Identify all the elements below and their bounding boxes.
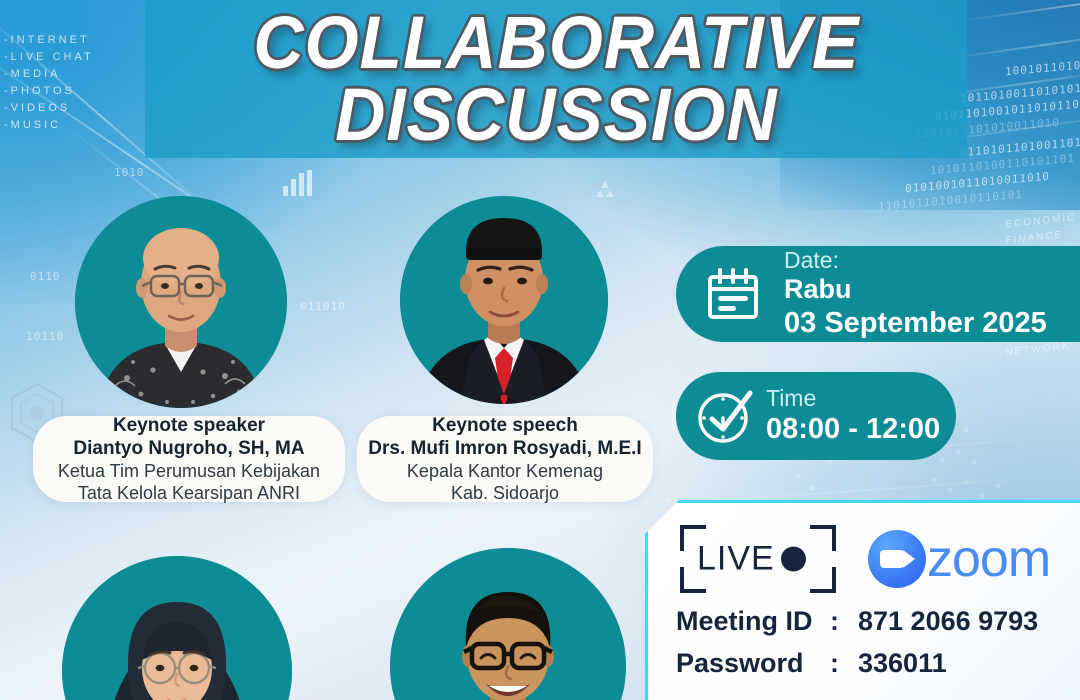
live-badge: LIVE xyxy=(680,525,836,593)
bracket-bottom-right-icon xyxy=(810,567,836,593)
password-row: Password : 336011 xyxy=(676,643,1038,685)
speaker-org-1-line2: Tata Kelola Kearsipan ANRI xyxy=(78,482,300,504)
title-line-1: COLLABORATIVE xyxy=(253,9,859,77)
poster-canvas: 1011010011010101001 0101101001011010110 … xyxy=(0,0,1080,700)
meeting-id-separator: : xyxy=(830,601,858,643)
zoom-wordmark: zoom xyxy=(927,529,1050,589)
binary-texture-row: 0110 xyxy=(30,270,61,283)
bar-chart-watermark xyxy=(283,170,312,196)
speaker-org-2-line2: Kab. Sidoarjo xyxy=(451,482,559,504)
password-separator: : xyxy=(830,643,858,685)
date-pill: Date: Rabu 03 September 2025 xyxy=(676,246,1080,342)
speaker-photo-2 xyxy=(400,196,608,404)
meeting-credentials: Meeting ID : 871 2066 9793 Password : 33… xyxy=(676,601,1038,685)
speaker-role-2: Keynote speech xyxy=(432,414,578,437)
speaker-card-2: Keynote speech Drs. Mufi Imron Rosyadi, … xyxy=(357,416,653,502)
zoom-camera-icon xyxy=(868,530,926,588)
time-label: Time xyxy=(766,386,940,412)
meeting-id-row: Meeting ID : 871 2066 9793 xyxy=(676,601,1038,643)
date-text-block: Date: Rabu 03 September 2025 xyxy=(784,248,1047,340)
live-label: LIVE xyxy=(697,540,775,579)
speaker-photo-4 xyxy=(390,548,626,700)
speaker-photo-1 xyxy=(75,196,287,408)
portrait-illustration xyxy=(390,548,626,700)
speaker-photo-3 xyxy=(62,556,292,700)
speaker-name-1: Diantyo Nugroho, SH, MA xyxy=(73,437,304,460)
clock-check-icon xyxy=(692,383,758,449)
record-dot-icon xyxy=(781,547,806,572)
broadcast-panel: LIVE zoom Meeting ID : 871 2066 9793 Pas… xyxy=(645,500,1080,700)
speaker-name-2: Drs. Mufi Imron Rosyadi, M.E.I xyxy=(368,437,641,460)
meeting-id-value: 871 2066 9793 xyxy=(858,601,1038,643)
zoom-logo: zoom xyxy=(868,529,1050,589)
binary-texture-row: 1010 xyxy=(114,166,145,179)
meeting-id-label: Meeting ID xyxy=(676,601,830,643)
title-banner: COLLABORATIVE DISCUSSION xyxy=(145,0,967,158)
time-value: 08:00 - 12:00 xyxy=(766,412,940,446)
password-label: Password xyxy=(676,643,830,685)
bracket-top-right-icon xyxy=(810,525,836,551)
background-keywords-left: -INTERNET-LIVE CHAT-MEDIA-PHOTOS-VIDEOS-… xyxy=(4,32,94,134)
calendar-icon xyxy=(704,265,762,323)
date-value: 03 September 2025 xyxy=(784,306,1047,340)
portrait-illustration xyxy=(75,196,287,408)
time-pill: Time 08:00 - 12:00 xyxy=(676,372,956,460)
portrait-illustration xyxy=(62,556,292,700)
speaker-role-1: Keynote speaker xyxy=(113,414,265,437)
binary-texture-row: 10110 xyxy=(26,330,64,343)
speaker-card-1: Keynote speaker Diantyo Nugroho, SH, MA … xyxy=(33,416,345,502)
portrait-illustration xyxy=(400,196,608,404)
time-text-block: Time 08:00 - 12:00 xyxy=(766,386,940,446)
broadcast-logos-row: LIVE zoom xyxy=(680,525,1050,593)
binary-texture-row: 011010 xyxy=(300,300,346,313)
password-value: 336011 xyxy=(858,643,947,685)
date-label: Date: xyxy=(784,248,1047,274)
date-day: Rabu xyxy=(784,274,1047,306)
speaker-org-1-line1: Ketua Tim Perumusan Kebijakan xyxy=(58,460,320,482)
speaker-org-2-line1: Kepala Kantor Kemenag xyxy=(407,460,603,482)
title-line-2: DISCUSSION xyxy=(335,81,777,149)
